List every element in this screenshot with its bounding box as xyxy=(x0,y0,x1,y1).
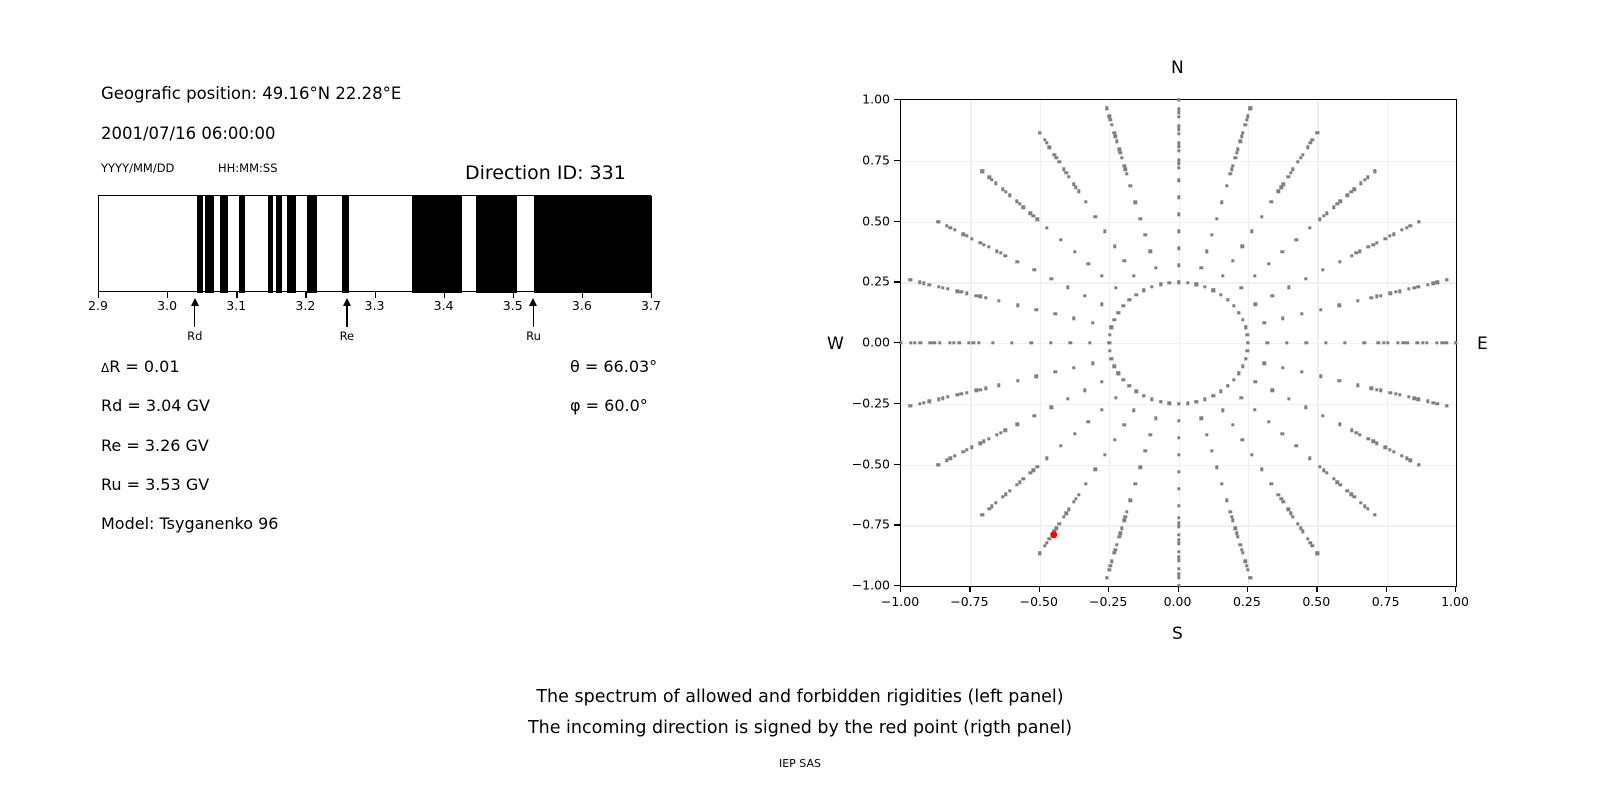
direction-dot xyxy=(999,251,1002,254)
direction-dot xyxy=(1281,366,1284,369)
direction-dot xyxy=(1177,533,1180,536)
caption-line-1: The spectrum of allowed and forbidden ri… xyxy=(0,687,1600,707)
direction-dot xyxy=(1240,286,1243,289)
direction-dot xyxy=(1018,480,1021,483)
direction-dot xyxy=(1421,341,1424,344)
direction-dot xyxy=(1103,453,1106,456)
direction-dot xyxy=(1239,543,1242,546)
direction-dot xyxy=(1016,423,1019,426)
direction-dot xyxy=(1215,466,1218,469)
direction-dot xyxy=(1059,444,1062,447)
direction-dot xyxy=(1431,282,1434,285)
direction-dot xyxy=(1159,400,1162,403)
forbidden-band xyxy=(205,196,214,293)
direction-dot xyxy=(1110,123,1113,126)
direction-dot xyxy=(1015,200,1018,203)
direction-dot xyxy=(1309,141,1312,144)
y-axis-tick-label: −0.25 xyxy=(838,395,890,410)
direction-dot xyxy=(995,433,998,436)
direction-dot xyxy=(1286,508,1289,511)
direction-dot xyxy=(941,397,944,400)
direction-dot xyxy=(1270,200,1273,203)
direction-dot xyxy=(1311,544,1314,547)
direction-dot xyxy=(1177,132,1180,135)
direction-dot xyxy=(1291,515,1294,518)
arrow-label-rd: Rd xyxy=(187,329,202,343)
x-axis-tick-label: 0.75 xyxy=(1372,594,1400,609)
direction-dot xyxy=(1281,317,1284,320)
direction-dot xyxy=(1358,433,1361,436)
direction-dot xyxy=(1211,394,1214,397)
direction-dot xyxy=(1132,274,1135,277)
direction-dot xyxy=(1129,184,1132,187)
direction-dot xyxy=(1263,361,1266,364)
direction-dot xyxy=(1073,250,1076,253)
direction-dot xyxy=(953,454,956,457)
direction-dot xyxy=(1260,215,1263,218)
direction-dot xyxy=(1195,400,1198,403)
direction-dot xyxy=(1281,432,1284,435)
direction-dot xyxy=(1407,287,1410,290)
caption-line-2: The incoming direction is signed by the … xyxy=(0,718,1600,738)
direction-dot xyxy=(1346,489,1349,492)
direction-dot xyxy=(1043,138,1046,141)
direction-dot xyxy=(981,169,984,172)
direction-dot xyxy=(1088,341,1091,344)
direction-dot xyxy=(928,283,931,286)
direction-dot xyxy=(1057,522,1060,525)
direction-dot xyxy=(1454,341,1457,344)
direction-dot xyxy=(1177,516,1180,519)
direction-dot xyxy=(1016,379,1019,382)
forbidden-band xyxy=(197,196,203,293)
direction-dot xyxy=(1038,552,1041,555)
direction-dot xyxy=(1244,357,1247,360)
direction-dot xyxy=(1435,341,1438,344)
direction-dot xyxy=(1135,293,1138,296)
direction-dot xyxy=(1177,550,1180,553)
direction-dot xyxy=(948,341,951,344)
datetime-text: 2001/07/16 06:00:00 xyxy=(101,124,275,143)
compass-west-label: W xyxy=(827,334,844,354)
direction-dot xyxy=(1246,333,1249,336)
direction-dot xyxy=(958,341,961,344)
direction-dot xyxy=(956,393,959,396)
direction-dot xyxy=(1067,508,1070,511)
direction-dot xyxy=(1338,423,1341,426)
direction-dot xyxy=(1396,341,1399,344)
direction-dot xyxy=(909,341,912,344)
direction-dot xyxy=(1211,289,1214,292)
direction-dot xyxy=(1177,144,1180,147)
direction-dot xyxy=(1186,281,1189,284)
direction-dot xyxy=(1241,551,1244,554)
y-axis-tick-label: 0.75 xyxy=(838,152,890,167)
direction-dot xyxy=(974,389,977,392)
direction-dot xyxy=(1118,535,1121,538)
direction-dot xyxy=(1066,397,1069,400)
direction-dot xyxy=(1296,160,1299,163)
y-axis-tick-label: −1.00 xyxy=(838,578,890,593)
direction-dot xyxy=(1237,311,1240,314)
direction-dot xyxy=(1123,164,1126,167)
direction-dot xyxy=(1032,468,1035,471)
direction-dot xyxy=(1115,139,1118,142)
direction-dot xyxy=(1267,420,1270,423)
direction-dot xyxy=(1370,387,1373,390)
direction-dot xyxy=(1231,259,1234,262)
direction-dot xyxy=(1205,433,1208,436)
direction-dot xyxy=(1177,453,1180,456)
direction-dot xyxy=(1394,290,1397,293)
direction-dot xyxy=(1010,341,1013,344)
re-value: Re = 3.26 GV xyxy=(101,436,209,455)
horizontal-gridline xyxy=(901,343,1456,344)
direction-dot xyxy=(1125,510,1128,513)
direction-dot xyxy=(1319,308,1322,311)
direction-dot xyxy=(946,395,949,398)
direction-dot xyxy=(1289,171,1292,174)
direction-dot xyxy=(918,402,921,405)
direction-dot xyxy=(1105,107,1108,110)
direction-dot xyxy=(1055,156,1058,159)
direction-dot xyxy=(1291,168,1294,171)
direction-dot xyxy=(1332,477,1335,480)
direction-dot xyxy=(1316,552,1319,555)
direction-dot xyxy=(937,285,940,288)
direction-dot xyxy=(953,228,956,231)
direction-dot xyxy=(1240,396,1243,399)
direction-dot xyxy=(1177,115,1180,118)
direction-dot xyxy=(1066,285,1069,288)
direction-dot xyxy=(1100,380,1103,383)
direction-dot xyxy=(1352,188,1355,191)
direction-dot xyxy=(1263,321,1266,324)
direction-dot xyxy=(1205,250,1208,253)
direction-dot xyxy=(1234,527,1237,530)
spectrum-bar xyxy=(98,195,651,292)
direction-dot xyxy=(977,341,980,344)
direction-dot xyxy=(1186,402,1189,405)
horizontal-gridline xyxy=(901,465,1456,466)
y-axis-tick-label: −0.75 xyxy=(838,517,890,532)
direction-dot xyxy=(1304,406,1307,409)
direction-dot xyxy=(1232,304,1235,307)
direction-dot xyxy=(1072,317,1075,320)
x-axis-tick-label: −0.75 xyxy=(950,594,988,609)
direction-dot xyxy=(1366,507,1369,510)
direction-dot xyxy=(1394,392,1397,395)
forbidden-band xyxy=(412,196,462,293)
direction-dot xyxy=(1225,499,1228,502)
direction-map-plot xyxy=(900,99,1457,587)
direction-dot xyxy=(1300,370,1303,373)
direction-dot xyxy=(987,175,990,178)
direction-dot xyxy=(1016,304,1019,307)
direction-dot xyxy=(1426,400,1429,403)
direction-dot xyxy=(1409,224,1412,227)
direction-dot xyxy=(1036,465,1039,468)
direction-dot xyxy=(1177,110,1180,113)
direction-dot xyxy=(994,181,997,184)
direction-dot xyxy=(1142,289,1145,292)
direction-dot xyxy=(1425,341,1428,344)
direction-dot xyxy=(1123,519,1126,522)
direction-dot xyxy=(1113,318,1116,321)
x-axis-tick-label: −0.50 xyxy=(1020,594,1058,609)
direction-dot xyxy=(1045,456,1048,459)
direction-dot xyxy=(1033,268,1036,271)
direction-dot xyxy=(994,501,997,504)
direction-dot xyxy=(1177,419,1180,422)
direction-dot xyxy=(1210,449,1213,452)
direction-dot xyxy=(1177,124,1180,127)
direction-dot xyxy=(1062,515,1065,518)
direction-dot xyxy=(1087,262,1090,265)
direction-dot xyxy=(1319,375,1322,378)
direction-dot xyxy=(1049,341,1052,344)
direction-dot xyxy=(1282,500,1285,503)
direction-dot xyxy=(1246,341,1249,344)
direction-dot xyxy=(1030,341,1033,344)
direction-dot xyxy=(1435,402,1438,405)
direction-dot xyxy=(938,341,941,344)
x-axis-tick-label: 1.00 xyxy=(1441,594,1469,609)
direction-dot xyxy=(1177,230,1180,233)
direction-dot xyxy=(1004,429,1007,432)
direction-dot xyxy=(945,224,948,227)
direction-dot xyxy=(1237,372,1240,375)
arrow-label-ru: Ru xyxy=(526,329,541,343)
direction-dot xyxy=(1245,118,1248,121)
direction-dot xyxy=(1100,302,1103,305)
arrow-up-icon xyxy=(343,298,351,306)
phi-value: φ = 60.0° xyxy=(570,396,648,415)
direction-dot xyxy=(1382,341,1385,344)
direction-dot xyxy=(981,513,984,516)
direction-dot xyxy=(1035,308,1038,311)
direction-dot xyxy=(933,341,936,344)
forbidden-band xyxy=(342,196,349,293)
direction-dot xyxy=(1296,522,1299,525)
x-axis-tick-label: −0.25 xyxy=(1089,594,1127,609)
direction-dot xyxy=(1113,551,1116,554)
direction-dot xyxy=(946,287,949,290)
direction-dot xyxy=(1036,218,1039,221)
direction-dot xyxy=(1445,341,1448,344)
direction-dot xyxy=(1415,341,1418,344)
direction-dot xyxy=(922,401,925,404)
direction-dot xyxy=(1287,285,1290,288)
direction-dot xyxy=(1282,182,1285,185)
direction-dot xyxy=(1144,233,1147,236)
direction-dot xyxy=(1389,292,1392,295)
direction-dot xyxy=(1445,404,1448,407)
direction-dot xyxy=(936,463,939,466)
direction-dot xyxy=(945,459,948,462)
direction-dot xyxy=(1400,454,1403,457)
direction-dot xyxy=(1440,341,1443,344)
direction-dot xyxy=(1144,449,1147,452)
direction-dot xyxy=(1367,437,1370,440)
direction-dot xyxy=(1295,238,1298,241)
direction-dot xyxy=(1338,304,1341,307)
direction-dot xyxy=(1318,465,1321,468)
direction-dot xyxy=(962,233,965,236)
direction-dot xyxy=(1321,268,1324,271)
direction-dot xyxy=(965,391,968,394)
direction-dot xyxy=(1435,281,1438,284)
direction-dot xyxy=(1045,226,1048,229)
compass-east-label: E xyxy=(1477,334,1488,354)
direction-dot xyxy=(1306,146,1309,149)
direction-dot xyxy=(1392,233,1395,236)
direction-dot xyxy=(1318,218,1321,221)
direction-dot xyxy=(1246,568,1249,571)
direction-dot xyxy=(1339,200,1342,203)
direction-dot xyxy=(937,398,940,401)
direction-dot xyxy=(1177,107,1180,110)
direction-dot xyxy=(1379,389,1382,392)
direction-dot xyxy=(1367,245,1370,248)
direction-dot xyxy=(1250,453,1253,456)
direction-id-label: Direction ID: 331 xyxy=(465,162,626,184)
direction-dot xyxy=(1308,226,1311,229)
direction-dot xyxy=(1346,194,1349,197)
direction-dot xyxy=(960,392,963,395)
direction-dot xyxy=(1219,293,1222,296)
direction-dot xyxy=(1338,260,1341,263)
direction-dot xyxy=(1113,244,1116,247)
direction-dot xyxy=(1168,402,1171,405)
direction-dot xyxy=(1053,312,1056,315)
direction-dot xyxy=(1332,206,1335,209)
direction-dot xyxy=(1270,482,1273,485)
direction-dot xyxy=(1124,168,1127,171)
direction-dot xyxy=(1402,341,1405,344)
time-format-label: HH:MM:SS xyxy=(218,161,278,175)
direction-dot xyxy=(1231,423,1234,426)
direction-dot xyxy=(1149,433,1152,436)
y-axis-tick-label: 0.25 xyxy=(838,274,890,289)
direction-dot xyxy=(1091,361,1094,364)
direction-dot xyxy=(967,341,970,344)
direction-dot xyxy=(1241,365,1244,368)
direction-dot xyxy=(1339,483,1342,486)
direction-dot xyxy=(1383,446,1386,449)
direction-dot xyxy=(1343,341,1346,344)
direction-dot xyxy=(1177,470,1180,473)
direction-dot xyxy=(1123,259,1126,262)
arrow-up-icon xyxy=(191,298,199,306)
direction-dot xyxy=(1043,544,1046,547)
direction-dot xyxy=(1235,151,1238,154)
direction-dot xyxy=(1100,408,1103,411)
direction-dot xyxy=(1417,463,1420,466)
arrow-shaft xyxy=(346,306,347,327)
direction-dot xyxy=(1113,131,1116,134)
x-axis-tick-label: 0.00 xyxy=(1164,594,1192,609)
direction-dot xyxy=(1177,402,1180,405)
direction-dot xyxy=(1246,349,1249,352)
delta-r-text: R = 0.01 xyxy=(109,357,179,376)
direction-dot xyxy=(1094,215,1097,218)
selected-direction-point xyxy=(1050,531,1058,539)
direction-dot xyxy=(1359,181,1362,184)
direction-dot xyxy=(1350,254,1353,257)
direction-dot xyxy=(1004,254,1007,257)
direction-dot xyxy=(1048,146,1051,149)
direction-dot xyxy=(1338,379,1341,382)
spectrum-arrow-markers: RdReRu xyxy=(98,298,651,346)
direction-dot xyxy=(965,234,968,237)
direction-dot xyxy=(990,178,993,181)
direction-dot xyxy=(1370,296,1373,299)
forbidden-band xyxy=(287,196,296,293)
direction-dot xyxy=(1220,482,1223,485)
y-axis-tick-label: −0.50 xyxy=(838,456,890,471)
direction-dot xyxy=(1363,341,1366,344)
direction-dot xyxy=(1110,560,1113,563)
direction-dot xyxy=(1053,370,1056,373)
direction-dot xyxy=(1379,294,1382,297)
direction-dot xyxy=(1073,432,1076,435)
direction-dot xyxy=(1001,495,1004,498)
direction-dot xyxy=(1375,295,1378,298)
direction-dot xyxy=(1195,283,1198,286)
direction-dot xyxy=(1406,341,1409,344)
direction-dot xyxy=(1254,380,1257,383)
direction-dot xyxy=(1358,250,1361,253)
direction-dot xyxy=(1032,214,1035,217)
direction-dot xyxy=(952,341,955,344)
direction-dot xyxy=(1154,416,1157,419)
direction-dot xyxy=(1049,406,1052,409)
direction-dot xyxy=(1431,401,1434,404)
direction-dot xyxy=(1177,247,1180,250)
direction-dot xyxy=(1177,98,1180,101)
geographic-position-text: Geografic position: 49.16°N 22.28°E xyxy=(101,84,401,103)
direction-dot xyxy=(978,295,981,298)
direction-dot xyxy=(1177,158,1180,161)
direction-dot xyxy=(1236,148,1239,151)
direction-dot xyxy=(1114,396,1117,399)
direction-dot xyxy=(1417,398,1420,401)
direction-dot xyxy=(1059,238,1062,241)
direction-dot xyxy=(1301,153,1304,156)
direction-dot xyxy=(1231,519,1234,522)
direction-dot xyxy=(1177,525,1180,528)
arrow-label-re: Re xyxy=(340,329,355,343)
direction-dot xyxy=(987,245,990,248)
direction-dot xyxy=(1067,175,1070,178)
direction-dot xyxy=(1103,230,1106,233)
direction-dot xyxy=(1244,326,1247,329)
direction-dot xyxy=(1072,366,1075,369)
direction-dot xyxy=(960,290,963,293)
direction-dot xyxy=(919,341,922,344)
direction-dot xyxy=(1132,409,1135,412)
direction-dot xyxy=(1177,166,1180,169)
direction-dot xyxy=(1135,389,1138,392)
x-axis-tick-label: 0.50 xyxy=(1302,594,1330,609)
direction-dot xyxy=(970,446,973,449)
direction-dot xyxy=(1244,123,1247,126)
direction-dot xyxy=(1177,436,1180,439)
direction-dot xyxy=(997,383,1000,386)
direction-dot xyxy=(1110,357,1113,360)
direction-dot xyxy=(1134,200,1137,203)
